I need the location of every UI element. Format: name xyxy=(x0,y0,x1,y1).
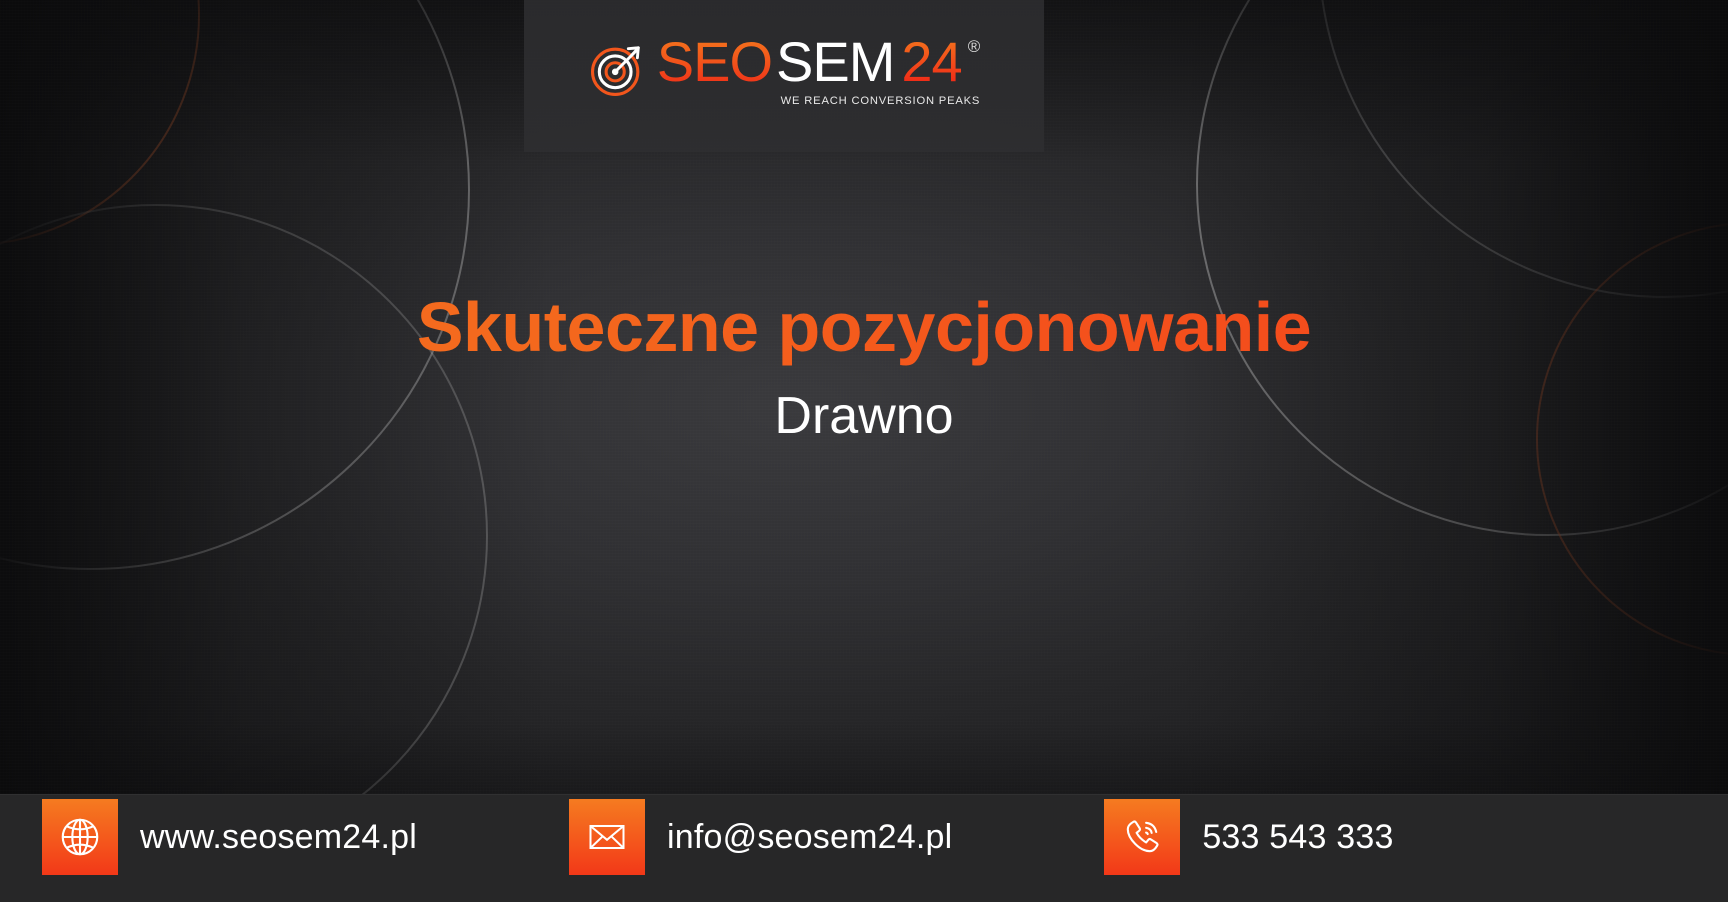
logo: SEO SEM 24 ® WE REACH CONVERSION PEAKS xyxy=(588,34,980,107)
contact-website[interactable]: www.seosem24.pl xyxy=(42,799,417,875)
logo-sem24-line: SEM 24 ® xyxy=(776,34,980,90)
registered-trademark-icon: ® xyxy=(968,38,981,55)
logo-seo-text: SEO xyxy=(657,34,772,90)
logo-sem-text: SEM xyxy=(776,34,894,90)
email-label: info@seosem24.pl xyxy=(667,818,952,857)
page-title: Skuteczne pozycjonowanie xyxy=(0,290,1728,366)
logo-panel: SEO SEM 24 ® WE REACH CONVERSION PEAKS xyxy=(524,0,1044,152)
website-label: www.seosem24.pl xyxy=(140,818,417,857)
globe-icon xyxy=(42,799,118,875)
envelope-icon xyxy=(569,799,645,875)
logo-right-block: SEM 24 ® WE REACH CONVERSION PEAKS xyxy=(776,34,980,107)
contact-email[interactable]: info@seosem24.pl xyxy=(569,799,952,875)
phone-icon xyxy=(1104,799,1180,875)
page-subtitle: Drawno xyxy=(0,388,1728,445)
target-arrow-icon xyxy=(588,41,646,99)
phone-label: 533 543 333 xyxy=(1202,818,1393,857)
contact-phone[interactable]: 533 543 333 xyxy=(1104,799,1393,875)
logo-24-text: 24 xyxy=(901,34,961,90)
slide-canvas: SEO SEM 24 ® WE REACH CONVERSION PEAKS S… xyxy=(0,0,1728,902)
logo-tagline: WE REACH CONVERSION PEAKS xyxy=(776,95,980,107)
hero-block: Skuteczne pozycjonowanie Drawno xyxy=(0,290,1728,445)
logo-wordmark: SEO SEM 24 ® WE REACH CONVERSION PEAKS xyxy=(657,34,980,107)
footer-contact-list: www.seosem24.pl info@seosem24.pl xyxy=(0,772,1728,902)
